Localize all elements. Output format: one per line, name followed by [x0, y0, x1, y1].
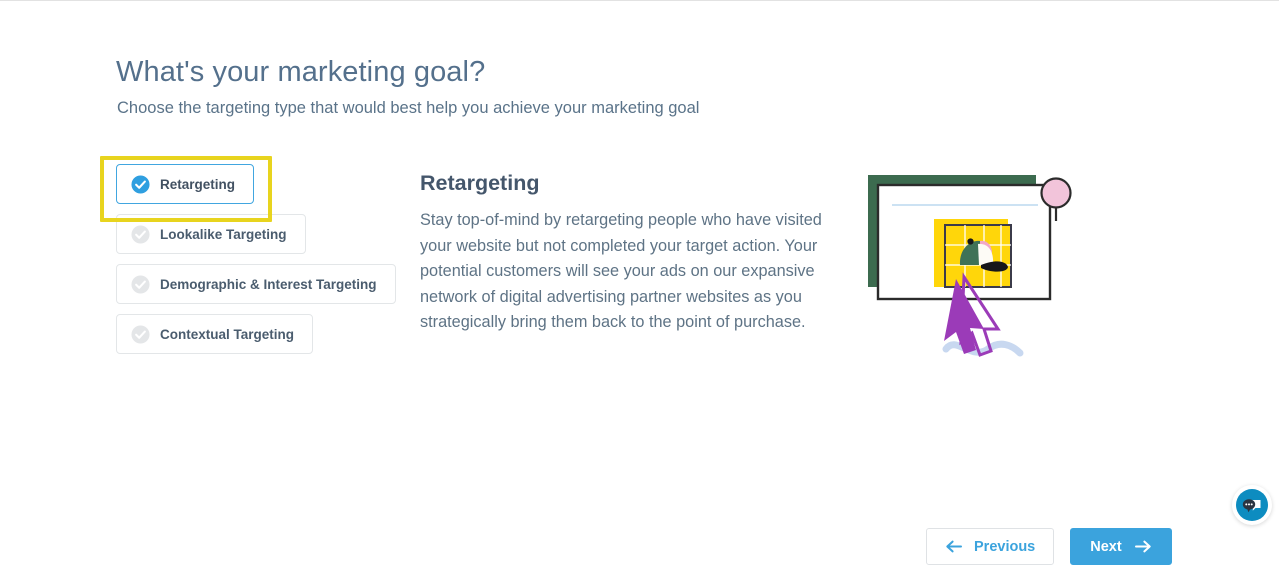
chat-widget-button[interactable] — [1232, 485, 1272, 525]
arrow-left-icon — [945, 540, 962, 553]
tab-demographic-interest-targeting[interactable]: Demographic & Interest Targeting — [116, 264, 396, 304]
detail-title: Retargeting — [420, 171, 539, 196]
retargeting-illustration — [860, 169, 1085, 374]
wizard-navigation: Previous Next — [926, 528, 1172, 565]
tab-label: Retargeting — [160, 177, 235, 192]
check-circle-filled-icon — [131, 175, 150, 194]
page-subtitle: Choose the targeting type that would bes… — [117, 99, 699, 118]
arrow-right-icon — [1135, 540, 1152, 553]
tab-contextual-targeting[interactable]: Contextual Targeting — [116, 314, 313, 354]
next-button-label: Next — [1090, 539, 1121, 555]
previous-button[interactable]: Previous — [926, 528, 1054, 565]
detail-description: Stay top-of-mind by retargeting people w… — [420, 208, 822, 336]
previous-button-label: Previous — [974, 539, 1035, 555]
targeting-type-tab-list: Retargeting Lookalike Targeting Demograp… — [116, 164, 416, 364]
tab-label: Contextual Targeting — [160, 327, 294, 342]
check-circle-muted-icon — [131, 325, 150, 344]
tab-lookalike-targeting[interactable]: Lookalike Targeting — [116, 214, 306, 254]
check-circle-muted-icon — [131, 225, 150, 244]
page-root: What's your marketing goal? Choose the t… — [0, 1, 1279, 569]
page-title: What's your marketing goal? — [116, 56, 485, 89]
next-button[interactable]: Next — [1070, 528, 1171, 565]
tab-label: Demographic & Interest Targeting — [160, 277, 377, 292]
tab-retargeting[interactable]: Retargeting — [116, 164, 254, 204]
chat-bubbles-icon — [1236, 489, 1268, 521]
tab-label: Lookalike Targeting — [160, 227, 287, 242]
check-circle-muted-icon — [131, 275, 150, 294]
